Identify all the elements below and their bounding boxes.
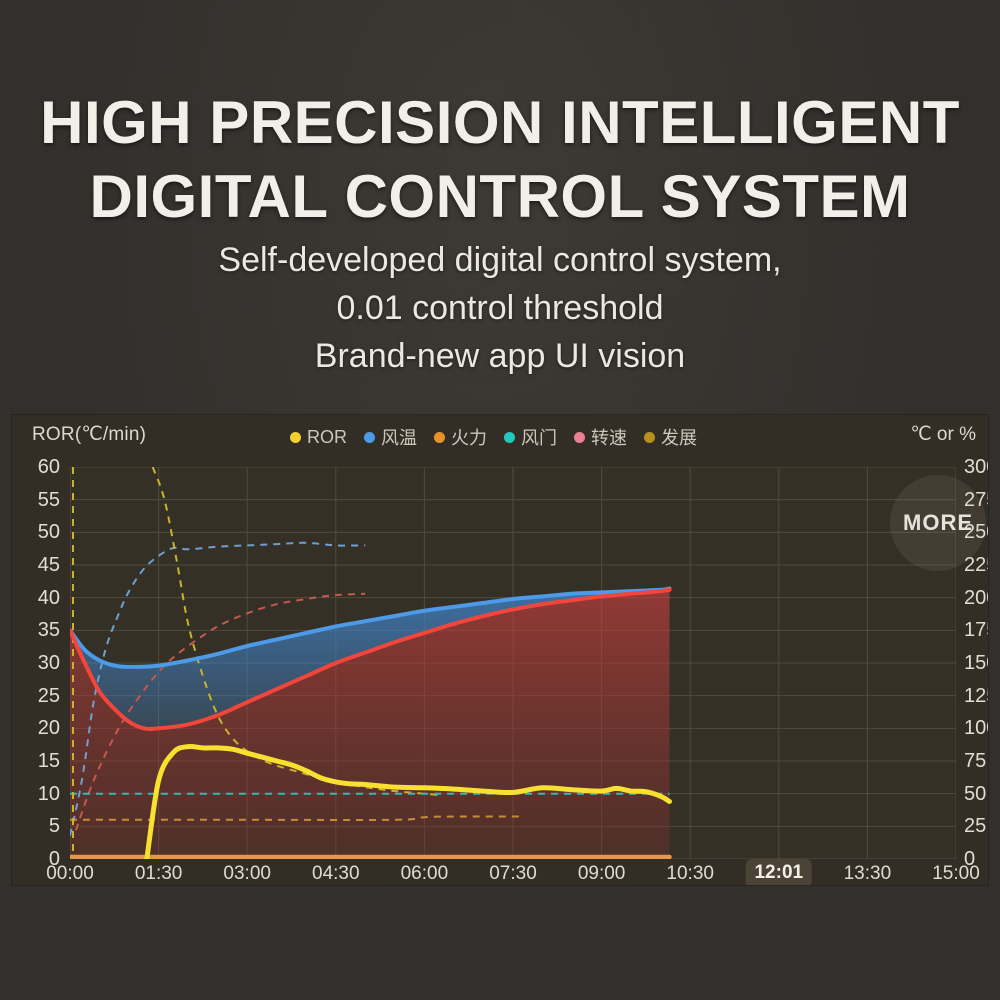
right-tick: 100 <box>964 718 988 738</box>
left-tick: 45 <box>38 555 60 575</box>
x-tick[interactable]: 01:30 <box>135 863 183 885</box>
left-tick: 60 <box>38 457 60 477</box>
right-tick: 125 <box>964 686 988 706</box>
left-tick: 40 <box>38 588 60 608</box>
subtitle-line-2: 0.01 control threshold <box>0 284 1000 332</box>
legend-item[interactable]: 风门 <box>504 424 557 450</box>
right-tick: 75 <box>964 751 986 771</box>
legend-label: ROR <box>307 427 347 448</box>
x-tick[interactable]: 10:30 <box>666 863 714 885</box>
left-tick: 15 <box>38 751 60 771</box>
plot-area[interactable] <box>70 467 956 859</box>
x-tick[interactable]: 00:00 <box>46 863 94 885</box>
x-tick[interactable]: 04:30 <box>312 863 360 885</box>
legend-item[interactable]: 火力 <box>434 424 487 450</box>
legend-item[interactable]: 风温 <box>364 424 417 450</box>
legend-dot-damper <box>504 432 515 443</box>
right-tick: 200 <box>964 588 988 608</box>
page-title: HIGH PRECISION INTELLIGENT DIGITAL CONTR… <box>0 86 1000 234</box>
right-tick: 300 <box>964 457 988 477</box>
left-axis-title: ROR(℃/min) <box>32 423 146 446</box>
x-tick[interactable]: 13:30 <box>844 863 892 885</box>
x-tick[interactable]: 15:00 <box>932 863 980 885</box>
left-tick: 25 <box>38 686 60 706</box>
legend-dot-heat <box>434 432 445 443</box>
subtitle-line-3: Brand-new app UI vision <box>0 332 1000 380</box>
chart-header: ROR(℃/min) ROR风温火力风门转速发展 ℃ or % <box>12 415 988 453</box>
x-tick[interactable]: 03:00 <box>223 863 271 885</box>
more-button[interactable]: MORE <box>890 475 986 571</box>
chart-svg <box>70 467 956 859</box>
right-tick: 150 <box>964 653 988 673</box>
left-tick: 30 <box>38 653 60 673</box>
headline-line-2: DIGITAL CONTROL SYSTEM <box>0 160 1000 234</box>
left-tick: 35 <box>38 620 60 640</box>
x-tick[interactable]: 09:00 <box>578 863 626 885</box>
right-axis-title: ℃ or % <box>910 423 976 446</box>
left-axis-ticks: 605550454035302520151050 <box>12 467 64 859</box>
legend-label: 火力 <box>451 424 487 450</box>
right-tick: 175 <box>964 620 988 640</box>
x-tick[interactable]: 07:30 <box>489 863 537 885</box>
legend-dot-development <box>644 432 655 443</box>
right-tick: 25 <box>964 816 986 836</box>
left-tick: 55 <box>38 490 60 510</box>
legend-label: 转速 <box>591 424 627 450</box>
left-tick: 50 <box>38 522 60 542</box>
x-axis-ticks: 00:0001:3003:0004:3006:0007:3009:0010:30… <box>12 863 988 885</box>
legend-label: 发展 <box>661 424 697 450</box>
legend-dot-rpm <box>574 432 585 443</box>
chart-legend: ROR风温火力风门转速发展 <box>290 424 697 450</box>
legend-dot-ror <box>290 432 301 443</box>
legend-dot-bean-temp <box>364 432 375 443</box>
headline-line-1: HIGH PRECISION INTELLIGENT <box>40 89 960 156</box>
roast-chart-panel: ROR(℃/min) ROR风温火力风门转速发展 ℃ or % 05:18 10… <box>12 415 988 885</box>
legend-item[interactable]: ROR <box>290 427 347 448</box>
legend-item[interactable]: 发展 <box>644 424 697 450</box>
page-subtitle: Self-developed digital control system, 0… <box>0 236 1000 380</box>
x-tick-active[interactable]: 12:01 <box>745 859 812 885</box>
left-tick: 20 <box>38 718 60 738</box>
left-tick: 5 <box>49 816 60 836</box>
x-tick[interactable]: 06:00 <box>401 863 449 885</box>
left-tick: 10 <box>38 784 60 804</box>
legend-item[interactable]: 转速 <box>574 424 627 450</box>
legend-label: 风温 <box>381 424 417 450</box>
legend-label: 风门 <box>521 424 557 450</box>
right-tick: 50 <box>964 784 986 804</box>
subtitle-line-1: Self-developed digital control system, <box>0 236 1000 284</box>
